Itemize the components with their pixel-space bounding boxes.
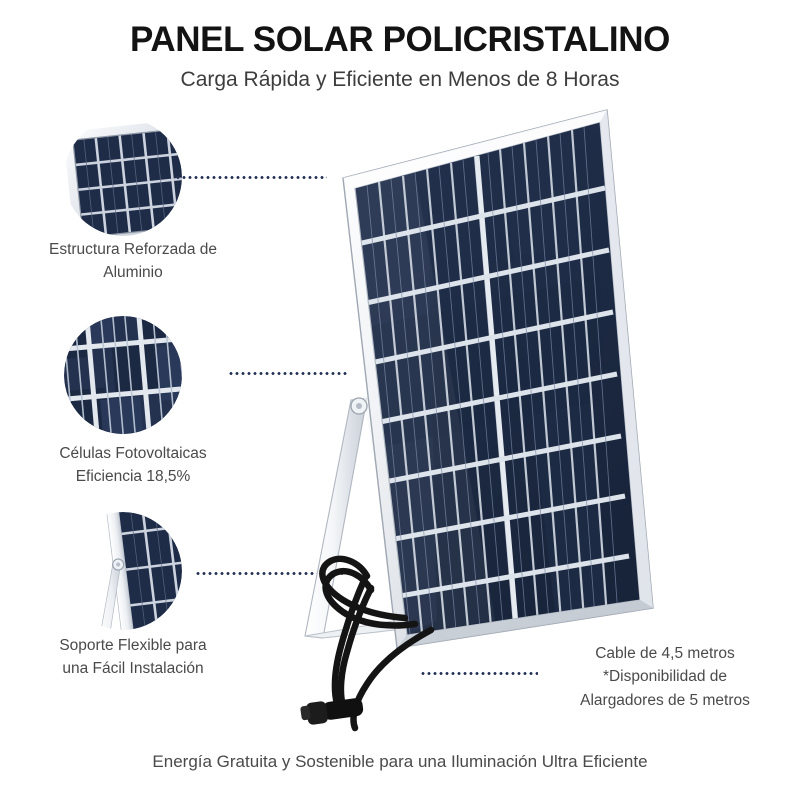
footer-tagline: Energía Gratuita y Sostenible para una I… bbox=[0, 752, 800, 772]
page-title: PANEL SOLAR POLICRISTALINO bbox=[0, 20, 800, 60]
callout-label-frame: Estructura Reforzada de Aluminio bbox=[8, 238, 258, 285]
product-infographic: PANEL SOLAR POLICRISTALINO Carga Rápida … bbox=[0, 0, 800, 800]
callout-label-cells: Células Fotovoltaicas Eficiencia 18,5% bbox=[8, 442, 258, 489]
hinge-screw bbox=[351, 398, 367, 414]
thumbnail-aluminum-frame bbox=[64, 118, 182, 236]
flexible-stand-hinge-icon bbox=[64, 512, 182, 630]
solar-panel-illustration bbox=[255, 100, 715, 740]
thumbnail-photovoltaic-cells bbox=[64, 316, 182, 434]
callout-label-stand: Soporte Flexible para una Fácil Instalac… bbox=[8, 634, 258, 681]
product-image-solar-panel bbox=[255, 100, 715, 740]
photovoltaic-cells-closeup-icon bbox=[64, 316, 182, 434]
polycrystalline-solar-panel bbox=[343, 110, 653, 648]
thumbnail-flexible-stand bbox=[64, 512, 182, 630]
page-subtitle: Carga Rápida y Eficiente en Menos de 8 H… bbox=[0, 68, 800, 92]
panel-corner-aluminum-frame-icon bbox=[64, 118, 182, 236]
